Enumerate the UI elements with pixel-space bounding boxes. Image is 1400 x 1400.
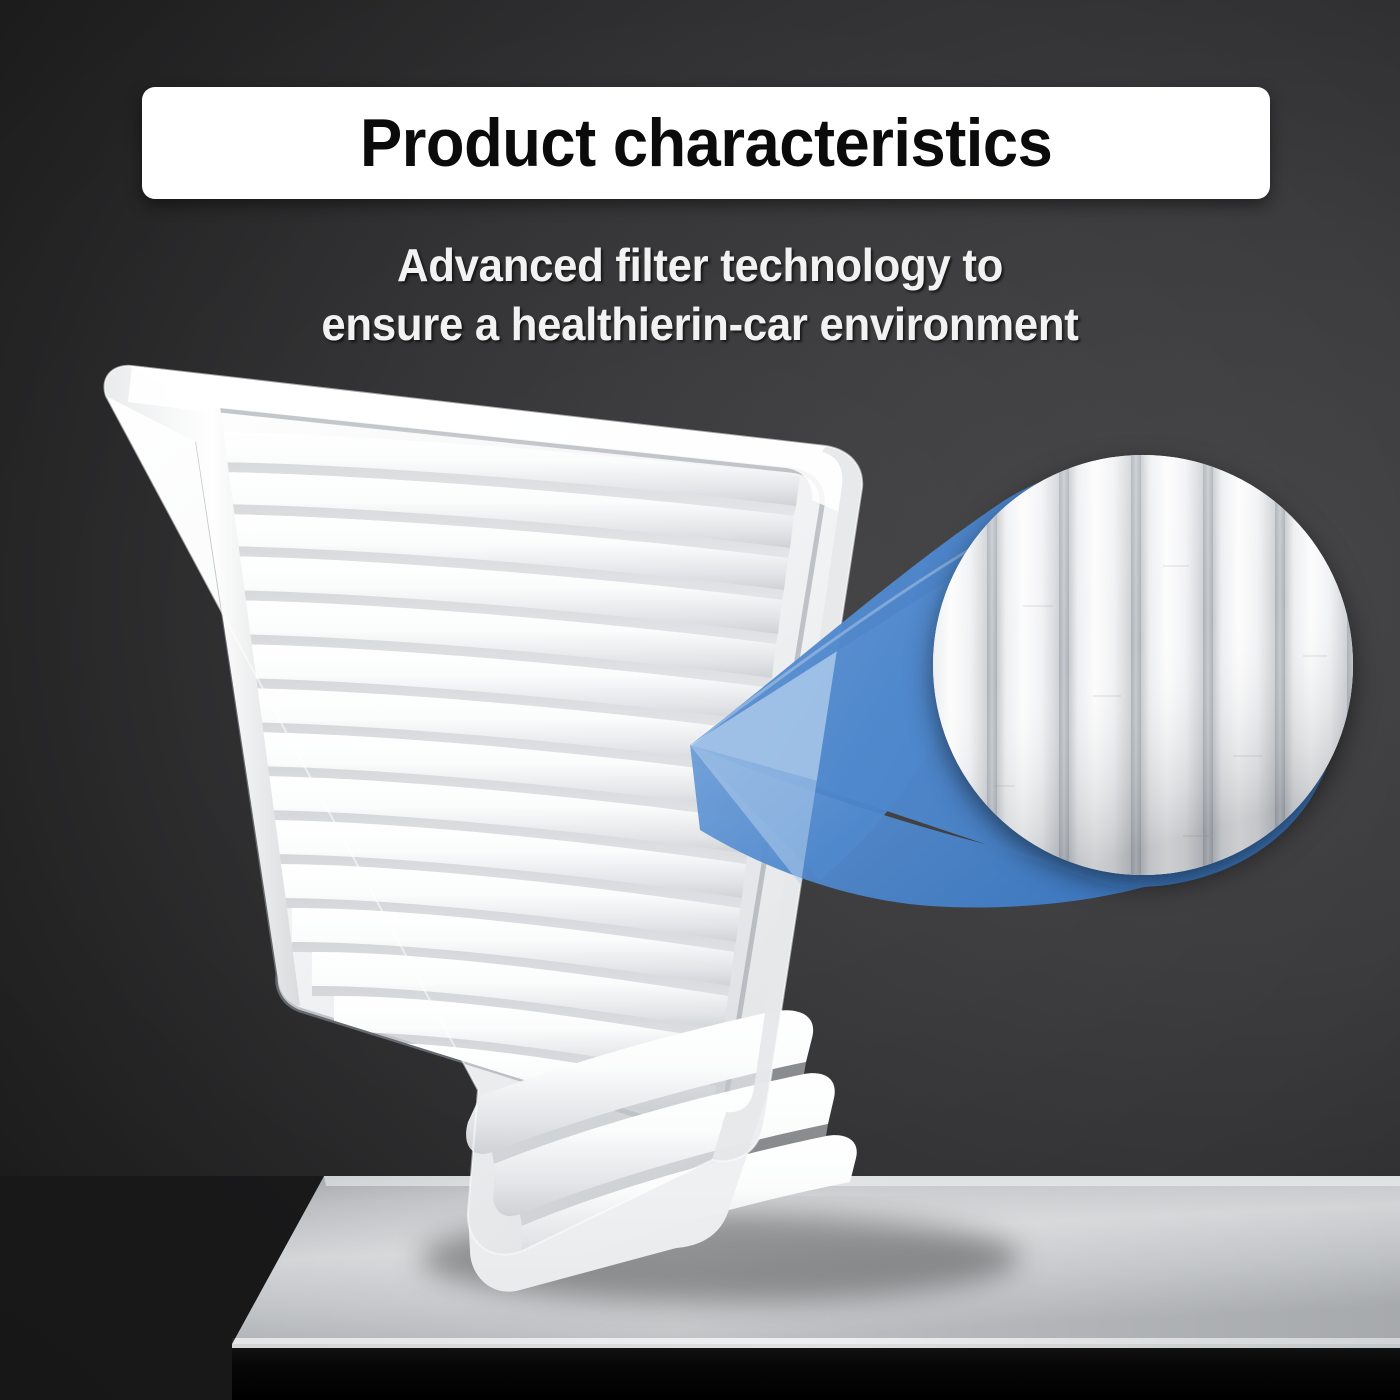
pleat-closeup-detail xyxy=(933,455,1353,875)
subtitle-line-1: Advanced filter technology to xyxy=(35,236,1365,295)
subtitle-line-2: ensure a healthierin-car environment xyxy=(35,295,1365,354)
magnifier-circle xyxy=(933,455,1353,875)
subtitle-block: Advanced filter technology to ensure a h… xyxy=(0,236,1400,354)
title-banner: Product characteristics xyxy=(142,87,1270,199)
product-feature-image: Product characteristics Advanced filter … xyxy=(0,0,1400,1400)
page-title: Product characteristics xyxy=(360,109,1052,177)
